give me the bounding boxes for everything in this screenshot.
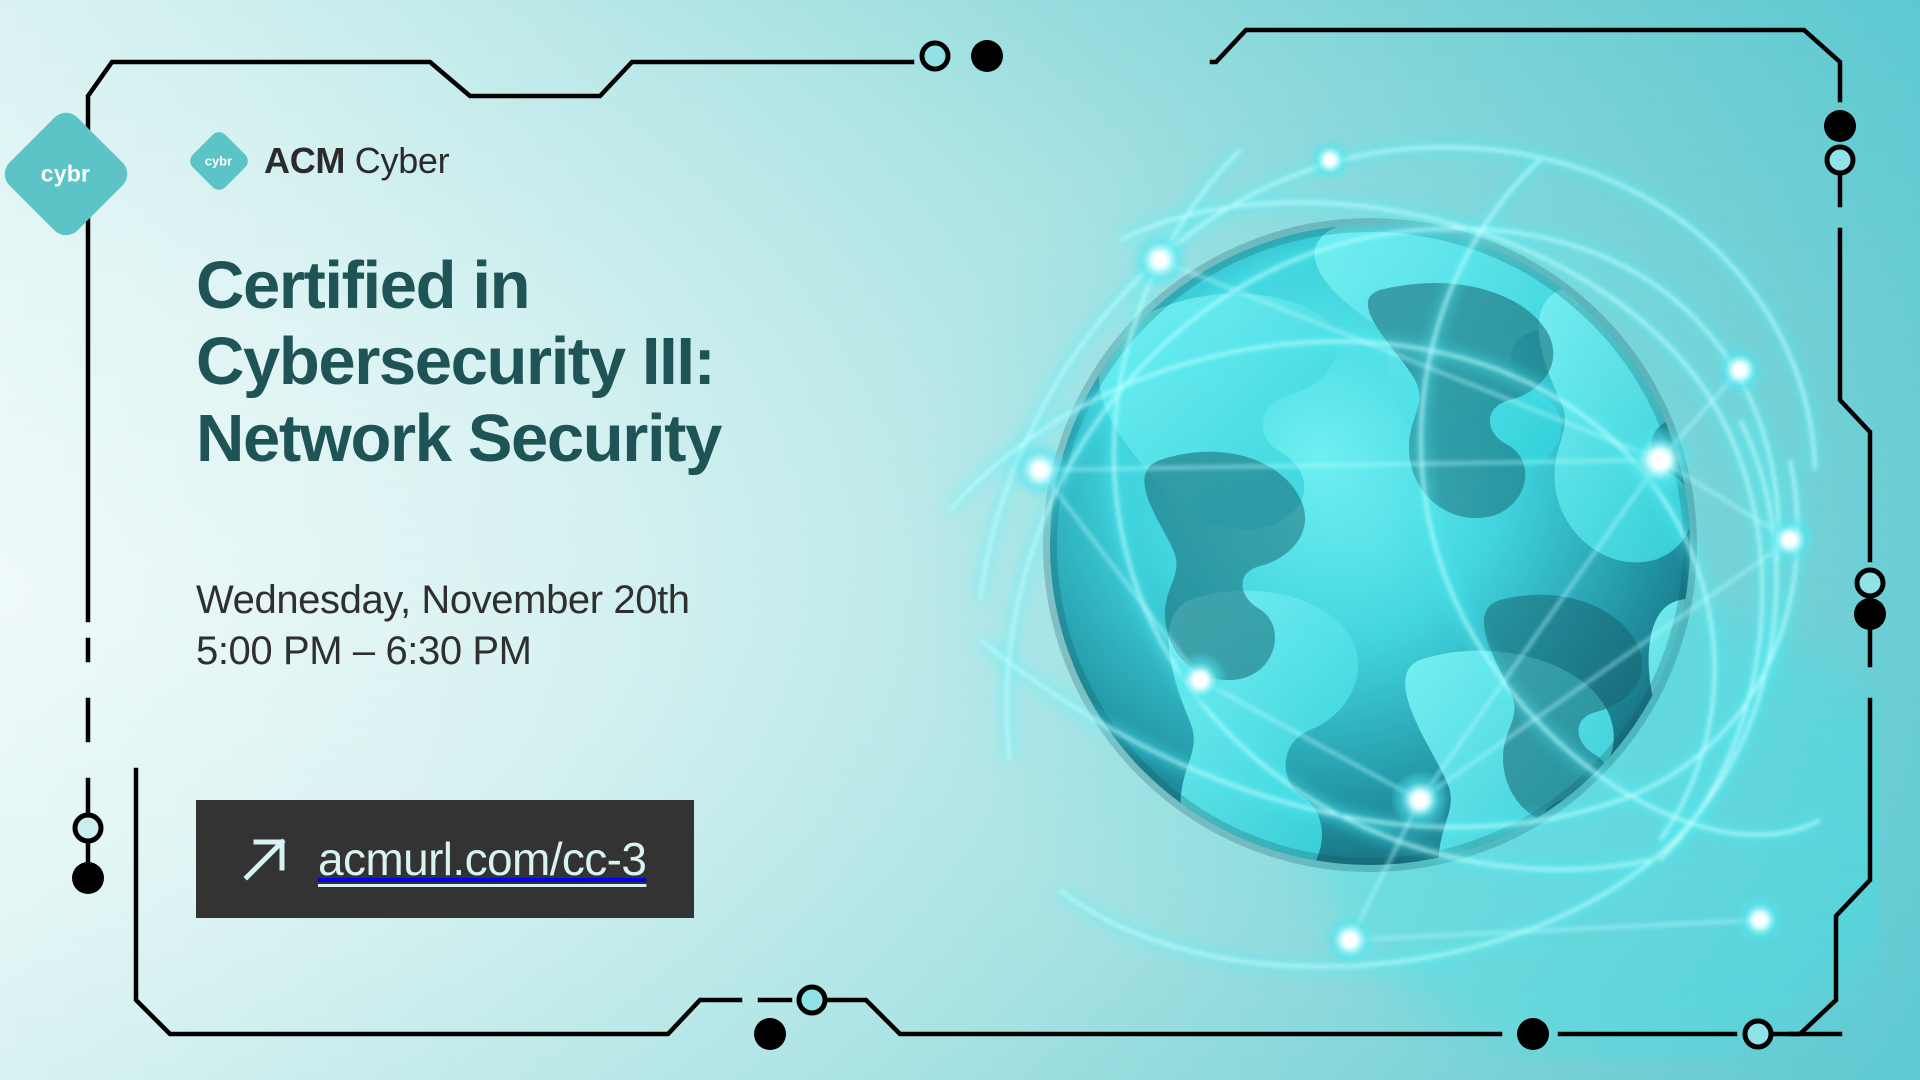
arrow-up-right-icon <box>242 836 288 882</box>
event-datetime: Wednesday, November 20th 5:00 PM – 6:30 … <box>196 575 836 677</box>
wordmark-acm: ACM <box>264 140 345 181</box>
cybr-brand-diamond-label: cybr <box>41 160 90 187</box>
event-date: Wednesday, November 20th <box>196 575 836 626</box>
event-title-line-1: Certified in <box>196 248 856 324</box>
event-title: Certified in Cybersecurity III: Network … <box>196 248 856 477</box>
event-link-button[interactable]: acmurl.com/cc-3 <box>196 800 694 918</box>
event-title-line-2: Cybersecurity III: <box>196 324 856 400</box>
poster-content: cybr cybr ACM Cyber Certified in Cyberse… <box>0 0 860 1080</box>
cybr-diamond-label: cybr <box>205 154 232 169</box>
acm-cyber-logo: cybr ACM Cyber <box>196 138 449 184</box>
poster-canvas: cybr cybr ACM Cyber Certified in Cyberse… <box>0 0 1920 1080</box>
cybr-brand-diamond-icon: cybr <box>0 106 134 242</box>
wordmark-cyber: Cyber <box>355 140 450 181</box>
acm-cyber-wordmark: ACM Cyber <box>264 140 449 182</box>
event-link-url: acmurl.com/cc-3 <box>318 832 646 886</box>
event-title-line-3: Network Security <box>196 401 856 477</box>
network-globe-illustration <box>860 40 1880 1060</box>
event-time: 5:00 PM – 6:30 PM <box>196 626 836 677</box>
cybr-diamond-icon: cybr <box>186 128 251 193</box>
